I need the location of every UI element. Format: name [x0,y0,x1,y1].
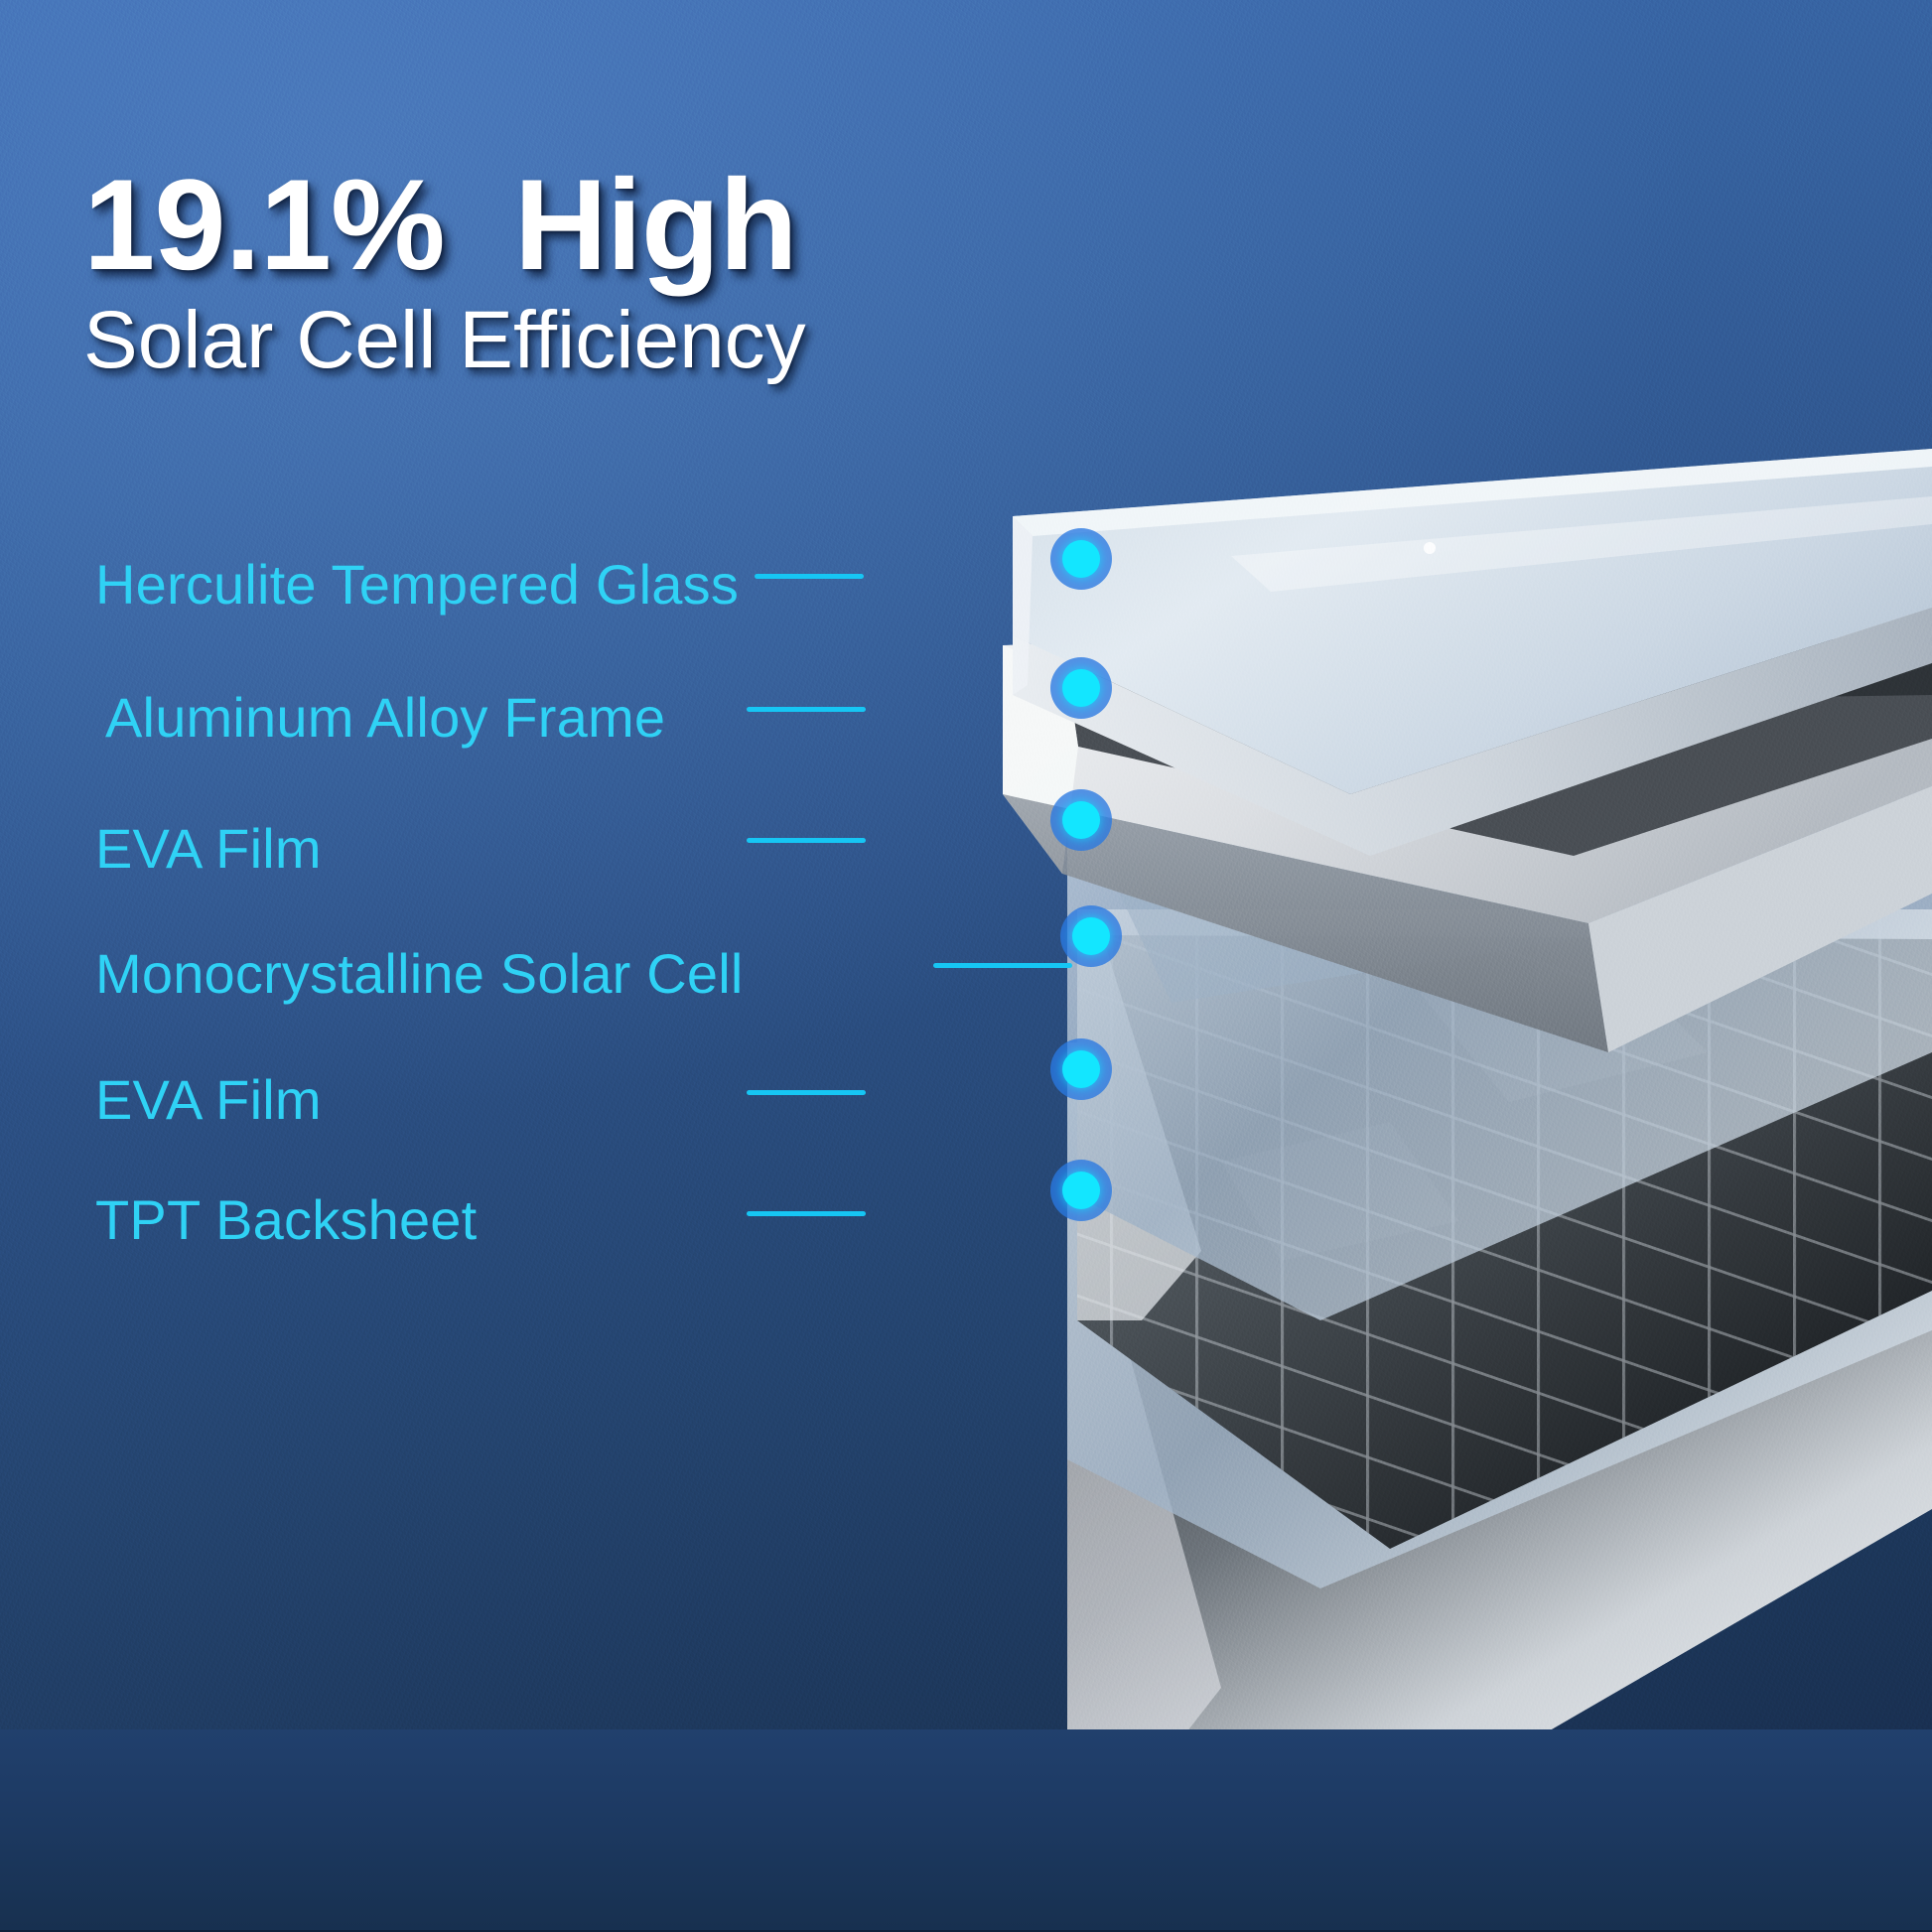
callout-label-eva-film-upper: EVA Film [95,816,322,881]
callout-dot-eva-film-lower[interactable] [1050,1038,1112,1100]
leader-line-tpt-backsheet [747,1211,866,1216]
callout-dot-aluminum-alloy-frame[interactable] [1050,657,1112,719]
headline-block: 19.1% High Solar Cell Efficiency [83,159,1175,384]
callout-label-monocrystalline-solar-cell: Monocrystalline Solar Cell [95,941,744,1006]
leader-line-eva-film-upper [747,838,866,843]
leader-line-tempered-glass [755,574,864,579]
leader-line-eva-film-lower [747,1090,866,1095]
callout-label-aluminum-alloy-frame: Aluminum Alloy Frame [105,685,665,750]
callout-dot-monocrystalline-solar-cell[interactable] [1060,905,1122,967]
callout-label-tpt-backsheet: TPT Backsheet [95,1187,477,1252]
product-infographic: 19.1% High Solar Cell Efficiency Herculi… [0,0,1932,1932]
leader-line-aluminum-alloy-frame [747,707,866,712]
page-title: 19.1% High [83,159,1175,291]
callout-label-tempered-glass: Herculite Tempered Glass [95,552,739,617]
leader-line-monocrystalline-solar-cell [933,963,1072,968]
callout-label-eva-film-lower: EVA Film [95,1067,322,1132]
callout-dot-tempered-glass[interactable] [1050,528,1112,590]
bottom-color-band [0,1729,1932,1932]
callout-dot-eva-film-upper[interactable] [1050,789,1112,851]
page-subtitle: Solar Cell Efficiency [83,297,1175,385]
callout-dot-tpt-backsheet[interactable] [1050,1160,1112,1221]
